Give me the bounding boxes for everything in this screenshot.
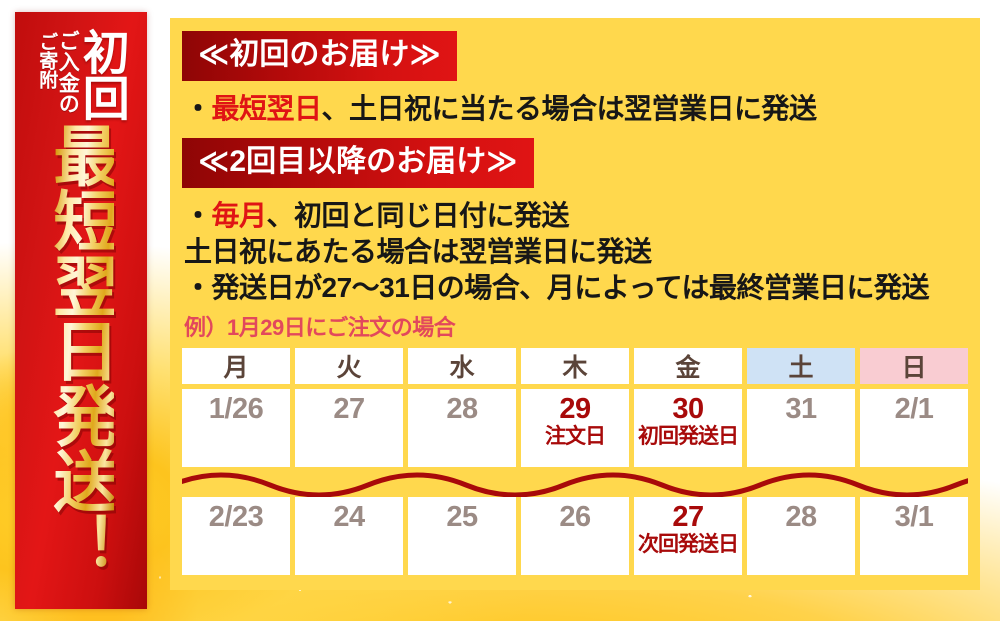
weekday-fri: 金 bbox=[634, 348, 742, 384]
day-number: 28 bbox=[785, 502, 816, 532]
day-number: 27 bbox=[672, 502, 703, 532]
section-2-header: ≪2回目以降のお届け≫ bbox=[182, 138, 534, 188]
bullet-marker: ・ bbox=[184, 93, 212, 124]
calendar-cell: 25 bbox=[408, 497, 516, 575]
calendar-weekday-header: 月 火 水 木 金 土 日 bbox=[182, 348, 968, 384]
day-number: 24 bbox=[333, 502, 364, 532]
bullet-marker: ・ bbox=[184, 272, 212, 303]
day-tag: 初回発送日 bbox=[638, 425, 738, 449]
wavy-divider-icon bbox=[182, 467, 968, 497]
section-1-header: ≪初回のお届け≫ bbox=[182, 31, 457, 81]
line-text: 、初回と同じ日付に発送 bbox=[267, 200, 570, 231]
calendar-row-1: 1/26 27 28 29 注文日 30 初回発送日 bbox=[182, 389, 968, 467]
example-note: 例）1月29日にご注文の場合 bbox=[170, 310, 980, 342]
calendar-cell: 3/1 bbox=[860, 497, 968, 575]
day-number: 28 bbox=[446, 394, 477, 424]
calendar-row-2: 2/23 24 25 26 27 次回発送日 bbox=[182, 497, 968, 575]
day-number: 27 bbox=[333, 394, 364, 424]
day-number: 26 bbox=[559, 502, 590, 532]
banner-shokai-label: 初回 bbox=[79, 28, 125, 120]
section-2-line-3: ・発送日が27〜31日の場合、月によっては最終営業日に発送 bbox=[170, 271, 980, 304]
calendar-cell: 28 bbox=[747, 497, 855, 575]
banner-main-group: 最短翌日発送！ bbox=[15, 122, 147, 603]
day-number: 1/26 bbox=[209, 394, 263, 424]
emphasis-text: 最短翌日 bbox=[212, 93, 322, 124]
banner-kifu-label: ご寄附 bbox=[37, 32, 56, 89]
weekday-sat: 土 bbox=[747, 348, 855, 384]
weekday-tue: 火 bbox=[295, 348, 403, 384]
day-number: 25 bbox=[446, 502, 477, 532]
section-1-line-1: ・最短翌日、土日祝に当たる場合は翌営業日に発送 bbox=[170, 92, 980, 125]
calendar-cell-order-day: 29 注文日 bbox=[521, 389, 629, 467]
section-2-header-wrap: ≪2回目以降のお届け≫ bbox=[170, 138, 980, 188]
banner-top-group: 初回 ご入金の ご寄附 bbox=[15, 28, 147, 120]
day-number: 3/1 bbox=[895, 502, 934, 532]
weekday-thu: 木 bbox=[521, 348, 629, 384]
line-text: 土日祝にあたる場合は翌営業日に発送 bbox=[184, 236, 652, 267]
calendar-cell-next-ship-day: 27 次回発送日 bbox=[634, 497, 742, 575]
day-tag: 次回発送日 bbox=[638, 533, 738, 557]
day-number: 29 bbox=[559, 394, 590, 424]
section-2-line-1: ・毎月、初回と同じ日付に発送 bbox=[170, 199, 980, 232]
calendar-cell: 2/23 bbox=[182, 497, 290, 575]
line-text: 、土日祝に当たる場合は翌営業日に発送 bbox=[322, 93, 817, 124]
weekday-mon: 月 bbox=[182, 348, 290, 384]
day-number: 2/23 bbox=[209, 502, 263, 532]
section-1-header-wrap: ≪初回のお届け≫ bbox=[170, 31, 980, 81]
emphasis-text: 毎月 bbox=[212, 200, 267, 231]
content-panel: ≪初回のお届け≫ ・最短翌日、土日祝に当たる場合は翌営業日に発送 ≪2回目以降の… bbox=[170, 18, 980, 590]
left-red-banner: 初回 ご入金の ご寄附 最短翌日発送！ bbox=[15, 12, 147, 609]
calendar-cell: 28 bbox=[408, 389, 516, 467]
weekday-wed: 水 bbox=[408, 348, 516, 384]
calendar-cell: 26 bbox=[521, 497, 629, 575]
calendar-cell: 27 bbox=[295, 389, 403, 467]
day-number: 2/1 bbox=[895, 394, 934, 424]
banner-headline: 最短翌日発送！ bbox=[48, 122, 115, 603]
promo-banner: 初回 ご入金の ご寄附 最短翌日発送！ ≪初回のお届け≫ ・最短翌日、土日祝に当… bbox=[0, 0, 1000, 621]
calendar-cell: 1/26 bbox=[182, 389, 290, 467]
day-number: 30 bbox=[672, 394, 703, 424]
day-tag: 注文日 bbox=[545, 425, 605, 449]
calendar-cell: 24 bbox=[295, 497, 403, 575]
calendar: 月 火 水 木 金 土 日 1/26 27 28 bbox=[170, 348, 980, 575]
weekday-sun: 日 bbox=[860, 348, 968, 384]
calendar-cell: 2/1 bbox=[860, 389, 968, 467]
line-text: 発送日が27〜31日の場合、月によっては最終営業日に発送 bbox=[212, 272, 930, 303]
day-number: 31 bbox=[785, 394, 816, 424]
section-2-line-2: 土日祝にあたる場合は翌営業日に発送 bbox=[170, 235, 980, 268]
bullet-marker: ・ bbox=[184, 200, 212, 231]
calendar-cell-first-ship-day: 30 初回発送日 bbox=[634, 389, 742, 467]
calendar-cell: 31 bbox=[747, 389, 855, 467]
